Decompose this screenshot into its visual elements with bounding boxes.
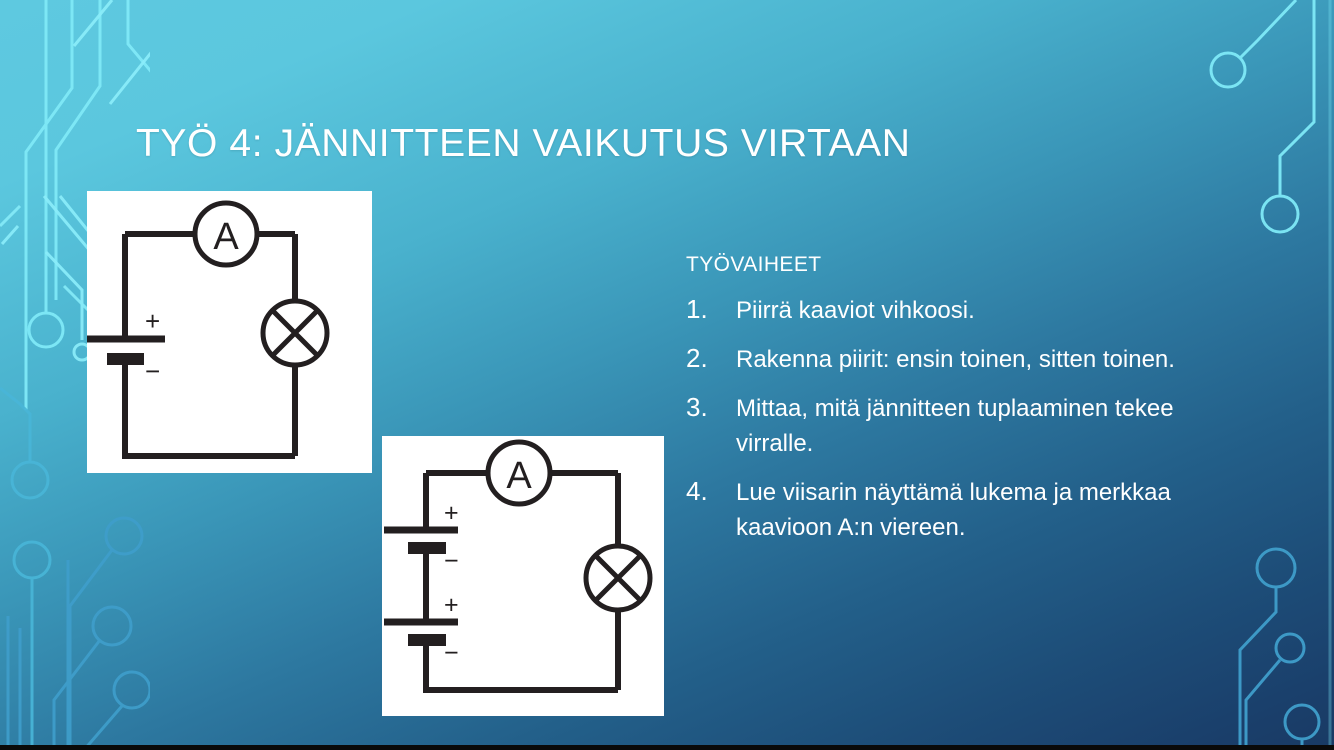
lamp-symbol	[263, 301, 327, 365]
battery-minus-label: −	[145, 356, 160, 386]
battery-plus-label: +	[145, 306, 160, 336]
lamp-symbol	[586, 546, 650, 610]
battery-plus-label: +	[444, 499, 459, 527]
bottom-edge-strip	[0, 745, 1334, 750]
circuit-diagram-double-cell: A + − + −	[382, 436, 664, 716]
list-item-number: 1.	[686, 291, 708, 329]
list-item-number: 4.	[686, 473, 708, 511]
ammeter-symbol: A	[488, 442, 550, 504]
steps-heading: TYÖVAIHEET	[686, 253, 1216, 277]
battery-minus-label: −	[444, 639, 459, 667]
list-item: 1. Piirrä kaaviot vihkoosi.	[686, 293, 1216, 328]
battery-cell-1: + −	[384, 499, 459, 575]
cell-plate-negative	[408, 542, 446, 554]
list-item-text: Rakenna piirit: ensin toinen, sitten toi…	[736, 342, 1216, 377]
list-item: 4. Lue viisarin näyttämä lukema ja merkk…	[686, 475, 1216, 545]
circuit-diagram-single-cell: A + −	[87, 191, 372, 473]
circuit-diagram-double-cell-svg: A + − + −	[382, 436, 664, 716]
list-item: 2. Rakenna piirit: ensin toinen, sitten …	[686, 342, 1216, 377]
battery-cell-2: + −	[384, 591, 459, 667]
battery-plus-label: +	[444, 591, 459, 619]
list-item-text: Piirrä kaaviot vihkoosi.	[736, 293, 1216, 328]
work-steps-block: TYÖVAIHEET 1. Piirrä kaaviot vihkoosi. 2…	[686, 253, 1216, 559]
ammeter-label: A	[506, 455, 532, 497]
presentation-slide: TYÖ 4: JÄNNITTEEN VAIKUTUS VIRTAAN	[0, 0, 1334, 750]
cell-plate-negative	[408, 634, 446, 646]
ammeter-label: A	[213, 216, 239, 258]
list-item-number: 3.	[686, 389, 708, 427]
list-item-text: Mittaa, mitä jännitteen tuplaaminen teke…	[736, 391, 1216, 461]
list-item-number: 2.	[686, 340, 708, 378]
steps-list: 1. Piirrä kaaviot vihkoosi. 2. Rakenna p…	[686, 293, 1216, 545]
battery-minus-label: −	[444, 547, 459, 575]
cell-plate-negative	[107, 353, 144, 365]
page-title: TYÖ 4: JÄNNITTEEN VAIKUTUS VIRTAAN	[136, 122, 911, 166]
list-item-text: Lue viisarin näyttämä lukema ja merkkaa …	[736, 475, 1216, 545]
ammeter-symbol: A	[195, 203, 257, 265]
list-item: 3. Mittaa, mitä jännitteen tuplaaminen t…	[686, 391, 1216, 461]
circuit-diagram-single-cell-svg: A + −	[87, 191, 372, 473]
